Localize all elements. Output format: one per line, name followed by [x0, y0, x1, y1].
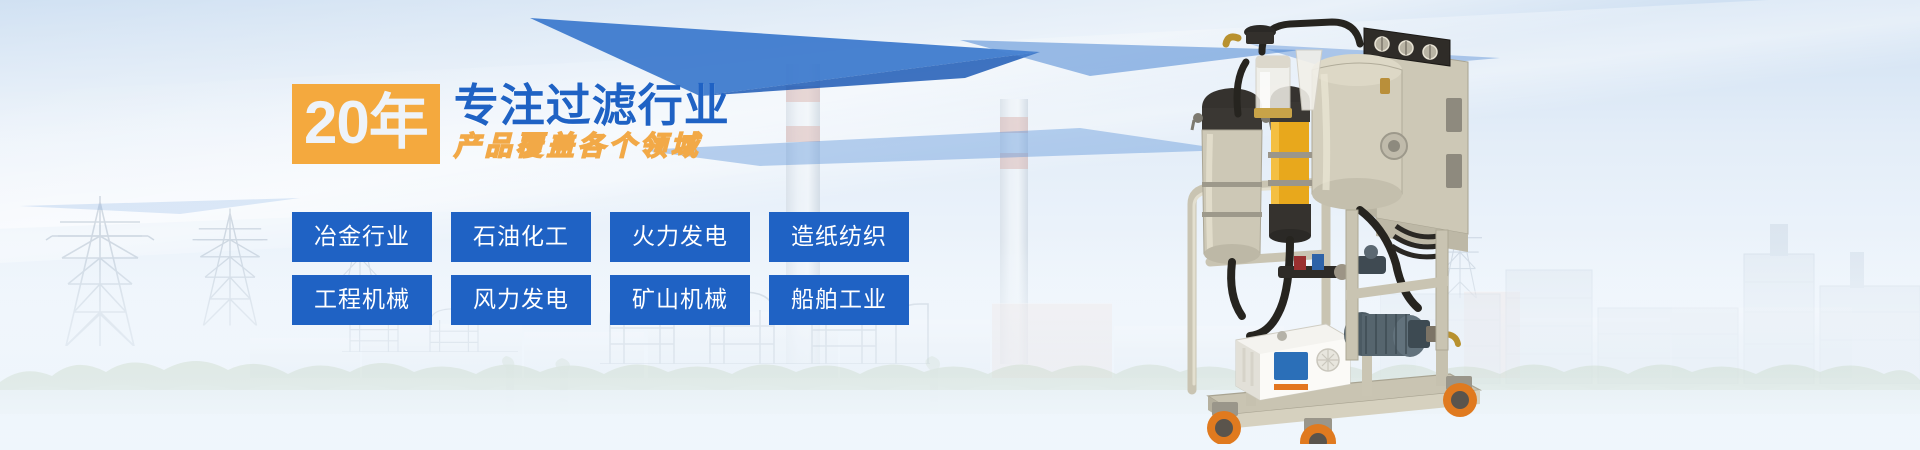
- industry-tag-construction-machinery[interactable]: 工程机械: [292, 275, 432, 325]
- industry-tag-wind-power[interactable]: 风力发电: [451, 275, 591, 325]
- page-subtitle: 产品覆盖各个领域: [454, 132, 730, 160]
- promo-banner: 20年 专注过滤行业 产品覆盖各个领域 冶金行业 石油化工 火力发电 造纸纺织 …: [0, 0, 1920, 450]
- vacuum-tank: [1312, 54, 1407, 210]
- industry-tag-mining-machinery[interactable]: 矿山机械: [610, 275, 750, 325]
- industry-tag-metallurgy[interactable]: 冶金行业: [292, 212, 432, 262]
- industry-tag-row-1: 冶金行业 石油化工 火力发电 造纸纺织: [292, 212, 992, 262]
- product-image-vacuum-oil-purifier: [1150, 4, 1490, 444]
- caster-wheel: [1300, 418, 1336, 444]
- caster-wheel: [1443, 376, 1477, 417]
- headline-row: 20年 专注过滤行业 产品覆盖各个领域: [292, 84, 912, 164]
- industry-tag-list: 冶金行业 石油化工 火力发电 造纸纺织 工程机械 风力发电 矿山机械 船舶工业: [292, 212, 992, 338]
- industry-tag-shipbuilding[interactable]: 船舶工业: [769, 275, 909, 325]
- years-badge: 20年: [292, 84, 440, 164]
- industry-tag-thermal-power[interactable]: 火力发电: [610, 212, 750, 262]
- top-valve: [1226, 25, 1276, 44]
- industry-tag-paper-textile[interactable]: 造纸纺织: [769, 212, 909, 262]
- headline-text-group: 专注过滤行业 产品覆盖各个领域: [454, 82, 730, 160]
- industry-tag-row-2: 工程机械 风力发电 矿山机械 船舶工业: [292, 275, 992, 325]
- page-title: 专注过滤行业: [454, 82, 730, 130]
- industry-tag-petrochemical[interactable]: 石油化工: [451, 212, 591, 262]
- sight-glass-chamber: [1254, 56, 1292, 118]
- caster-wheel: [1207, 402, 1241, 444]
- headline-block: 20年 专注过滤行业 产品覆盖各个领域: [292, 84, 912, 164]
- ball-valve: [1356, 245, 1386, 274]
